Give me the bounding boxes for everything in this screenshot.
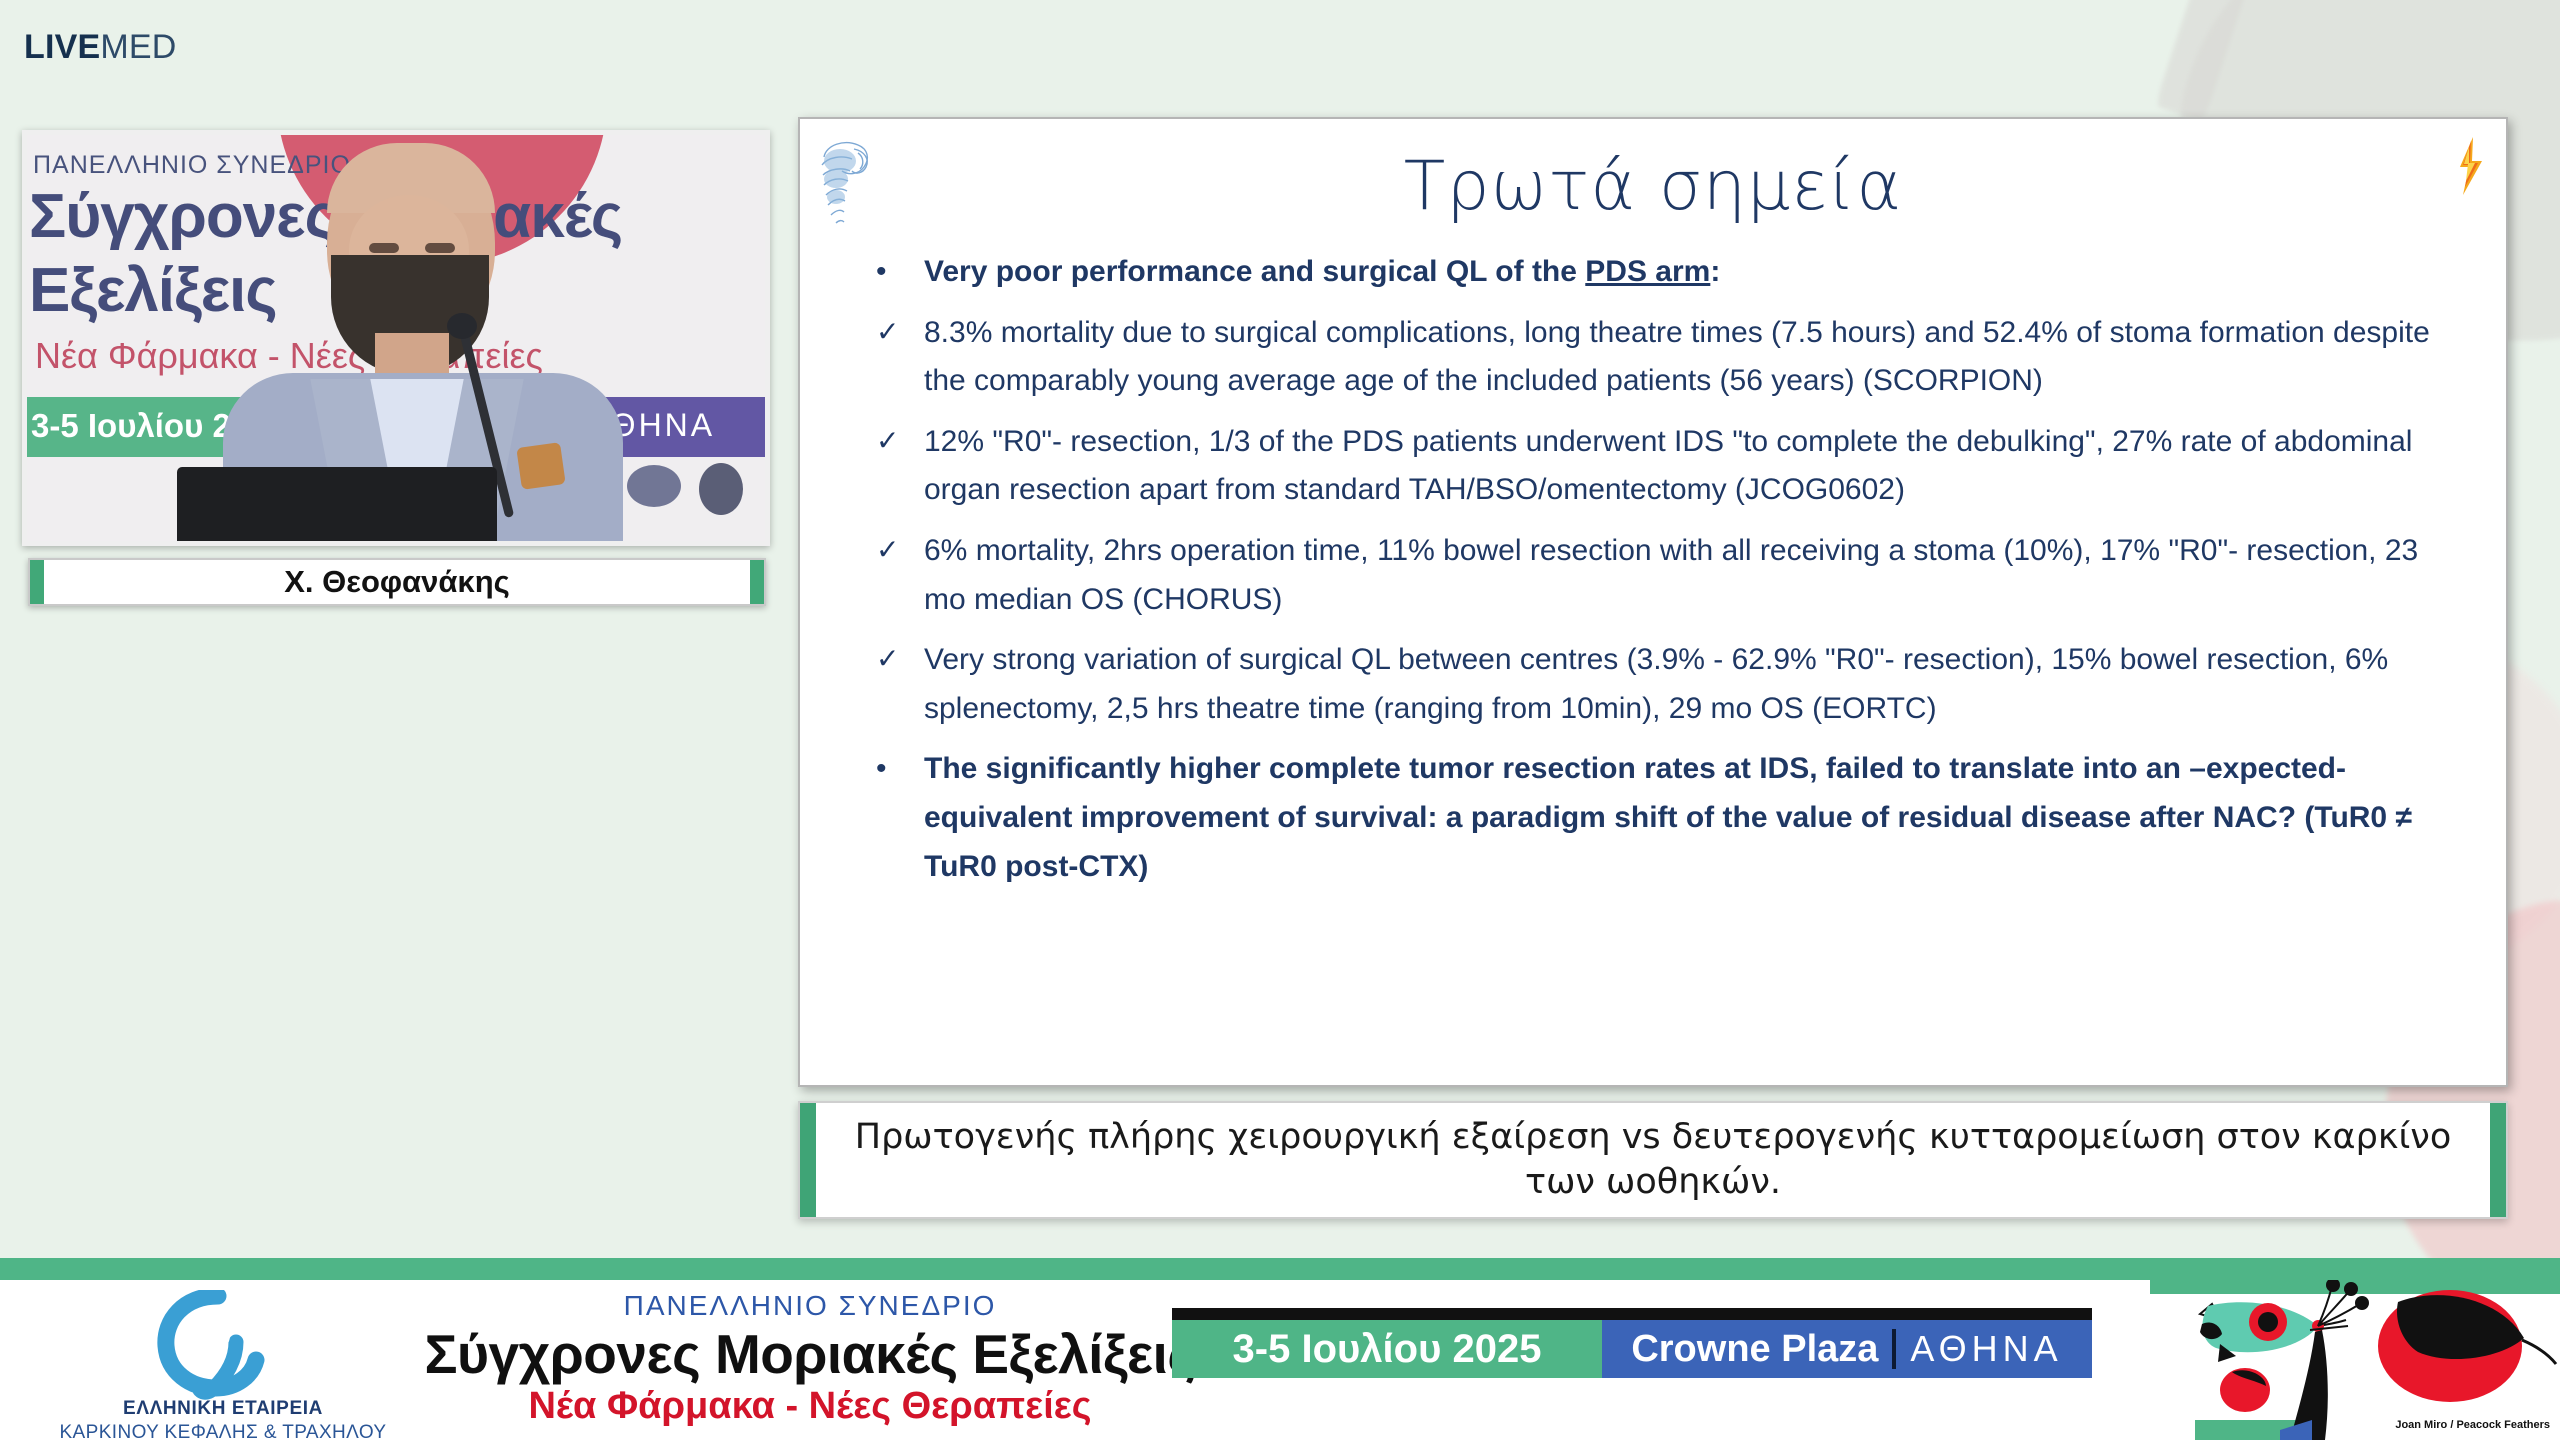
bullet-text-tail: : xyxy=(1710,255,1720,288)
speaker-name-label: Χ. Θεοφανάκης xyxy=(284,564,510,600)
miro-artwork: Joan Miro / Peacock Feathers xyxy=(2150,1280,2560,1440)
bullet-text: 6% mortality, 2hrs operation time, 11% b… xyxy=(924,527,2454,624)
top-brand-bar: LIVEMED xyxy=(0,0,2560,95)
bullet-marker: ✓ xyxy=(862,309,924,354)
bullet-marker: ✓ xyxy=(862,418,924,463)
bullet-item: ✓ 6% mortality, 2hrs operation time, 11%… xyxy=(862,527,2454,624)
session-caption-text: Πρωτογενής πλήρης χειρουργική εξαίρεση v… xyxy=(834,1115,2472,1205)
logo-text-live: LIVE xyxy=(24,28,100,66)
video-frame: ΠΑΝΕΛΛΗΝΙΟ ΣΥΝΕΔΡΙΟ Σύγχρονες Μοριακές Ε… xyxy=(27,135,765,541)
slide-title: Τρωτά σημεία xyxy=(800,147,2506,226)
bullet-text: Very strong variation of surgical QL bet… xyxy=(924,636,2454,733)
footer-date: 3-5 Ιουλίου 2025 xyxy=(1172,1320,1602,1378)
bullet-item: ✓ Very strong variation of surgical QL b… xyxy=(862,636,2454,733)
lightning-bolt-icon xyxy=(2454,137,2486,195)
speaker-video-player[interactable]: ΠΑΝΕΛΛΗΝΙΟ ΣΥΝΕΔΡΙΟ Σύγχρονες Μοριακές Ε… xyxy=(22,130,770,546)
artwork-credit: Joan Miro / Peacock Feathers xyxy=(2395,1419,2550,1431)
society-ribbon-logo-icon xyxy=(140,1290,300,1400)
footer-chip-topbar xyxy=(1172,1308,2092,1320)
bullet-text: Very poor performance and surgical QL of… xyxy=(924,248,2454,297)
footer-green-divider xyxy=(0,1258,2560,1280)
bullet-text: The significantly higher complete tumor … xyxy=(924,745,2454,891)
bullet-item: ✓ 12% "R0"- resection, 1/3 of the PDS pa… xyxy=(862,418,2454,515)
speaker-name-bar: Χ. Θεοφανάκης xyxy=(28,558,766,606)
bullet-text-underlined: PDS arm xyxy=(1585,255,1710,288)
livemed-logo[interactable]: LIVEMED xyxy=(24,28,177,67)
video-overlay xyxy=(27,135,765,541)
footer-title: Σύγχρονες Μοριακές Εξελίξεις xyxy=(400,1322,1220,1386)
footer-details-chip: 3-5 Ιουλίου 2025 Crowne Plaza ΑΘΗΝΑ xyxy=(1172,1320,2092,1378)
miro-artwork-svg: Joan Miro / Peacock Feathers xyxy=(2150,1280,2560,1440)
bullet-item: ✓ 8.3% mortality due to surgical complic… xyxy=(862,309,2454,406)
footer-venue-block: Crowne Plaza ΑΘΗΝΑ xyxy=(1602,1320,2092,1378)
footer-venue-separator xyxy=(1892,1329,1896,1369)
bullet-text: 12% "R0"- resection, 1/3 of the PDS pati… xyxy=(924,418,2454,515)
logo-text-med: MED xyxy=(100,28,176,66)
footer-kicker: ΠΑΝΕΛΛΗΝΙΟ ΣΥΝΕΔΡΙΟ xyxy=(430,1290,1190,1322)
bullet-item: • Very poor performance and surgical QL … xyxy=(862,248,2454,297)
bullet-text: 8.3% mortality due to surgical complicat… xyxy=(924,309,2454,406)
bullet-marker: ✓ xyxy=(862,636,924,681)
footer-subtitle: Νέα Φάρμακα - Νέες Θεραπείες xyxy=(430,1385,1190,1428)
society-name-line1: ΕΛΛΗΝΙΚΗ ΕΤΑΙΡΕΙΑ xyxy=(58,1398,388,1420)
athena-head-crest-icon xyxy=(814,135,876,233)
bullet-marker: • xyxy=(862,745,924,794)
bullet-marker: • xyxy=(862,248,924,297)
bullet-marker: ✓ xyxy=(862,527,924,572)
session-caption-box: Πρωτογενής πλήρης χειρουργική εξαίρεση v… xyxy=(798,1101,2508,1219)
footer-venue-city: ΑΘΗΝΑ xyxy=(1910,1328,2062,1370)
footer-venue-name: Crowne Plaza xyxy=(1631,1328,1878,1371)
presentation-slide[interactable]: Τρωτά σημεία • Very poor performance and… xyxy=(798,117,2508,1087)
bullet-item: • The significantly higher complete tumo… xyxy=(862,745,2454,891)
slide-bullet-list: • Very poor performance and surgical QL … xyxy=(862,248,2454,891)
society-name-line2: ΚΑΡΚΙΝΟΥ ΚΕΦΑΛΗΣ & ΤΡΑΧΗΛΟΥ xyxy=(38,1422,408,1440)
app-root: LIVEMED ΠΑΝΕΛΛΗΝΙΟ ΣΥΝΕΔΡΙΟ Σύγχρονες Μο… xyxy=(0,0,2560,1440)
bullet-text-main: Very poor performance and surgical QL of… xyxy=(924,255,1585,288)
